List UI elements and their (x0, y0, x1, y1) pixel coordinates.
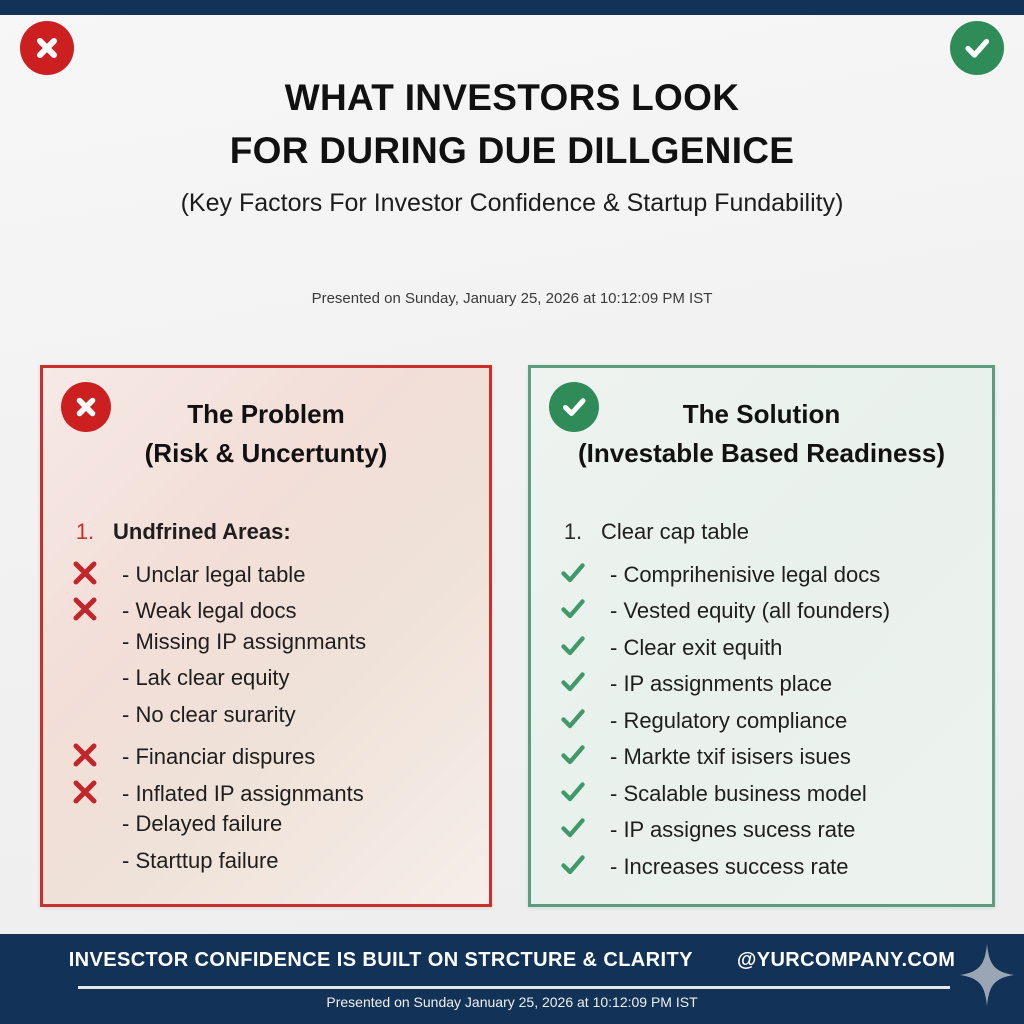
list-item-label: - Regulatory compliance (601, 708, 847, 734)
list-item: - Unclar legal table (57, 556, 475, 593)
list-item-label: - Clear exit equith (601, 635, 782, 661)
x-mark-icon (57, 775, 113, 805)
list-item-label: - Scalable business model (601, 781, 867, 807)
footer-tagline: INVESCTOR CONFIDENCE IS BUILT ON STRCTUR… (69, 949, 693, 972)
list-item: - Clear exit equith (545, 629, 978, 666)
list-item-label: Undfrined Areas: (113, 519, 291, 545)
infographic-page: WHAT INVESTORS LOOK FOR DURING DUE DILLG… (0, 0, 1024, 1024)
list-item-label: Clear cap table (601, 519, 749, 545)
x-mark-icon (57, 556, 113, 586)
list-number-label: 1. (76, 519, 94, 544)
list-item: 1.Clear cap table (545, 519, 978, 556)
solution-panel-heading: The Solution (Investable Based Readiness… (545, 384, 978, 473)
top-navy-strip (0, 0, 1024, 15)
list-item: - Lak clear equity (57, 665, 475, 702)
x-circle-icon (20, 21, 74, 75)
list-item: - Vested equity (all founders) (545, 592, 978, 629)
list-item: - IP assignments place (545, 665, 978, 702)
list-item: - Weak legal docs (57, 592, 475, 629)
list-item: - IP assignes sucess rate (545, 811, 978, 848)
list-item-label: - Missing IP assignmants (113, 629, 366, 655)
list-item: 1.Undfrined Areas: (57, 519, 475, 556)
check-mark-icon (545, 848, 601, 878)
list-item-number: 1. (545, 521, 601, 543)
footer-website[interactable]: @YURCOMPANY.COM (737, 949, 955, 972)
problem-panel: The Problem (Risk & Uncertunty) 1.Undfri… (40, 365, 492, 907)
list-item-label: - Lak clear equity (113, 665, 290, 691)
problem-heading-line-2: (Risk & Uncertunty) (57, 434, 475, 473)
check-mark-icon (545, 629, 601, 659)
list-item: - Financiar dispures (57, 738, 475, 775)
solution-panel: The Solution (Investable Based Readiness… (528, 365, 995, 907)
page-subtitle: (Key Factors For Investor Confidence & S… (0, 189, 1024, 218)
list-item-label: - Starttup failure (113, 848, 279, 874)
list-item: - Increases success rate (545, 848, 978, 885)
comparison-panels: The Problem (Risk & Uncertunty) 1.Undfri… (0, 365, 1024, 907)
check-mark-icon (545, 738, 601, 768)
solution-heading-line-1: The Solution (545, 394, 978, 434)
x-mark-icon (57, 738, 113, 768)
solution-heading-line-2: (Investable Based Readiness) (545, 434, 978, 473)
problem-list: 1.Undfrined Areas:- Unclar legal table- … (57, 519, 475, 884)
list-item-label: - No clear surarity (113, 702, 296, 728)
list-item-label: - Increases success rate (601, 854, 848, 880)
problem-panel-heading: The Problem (Risk & Uncertunty) (57, 384, 475, 473)
list-item-label: - Inflated IP assignmants (113, 781, 364, 807)
check-mark-icon (545, 665, 601, 695)
page-header: WHAT INVESTORS LOOK FOR DURING DUE DILLG… (0, 72, 1024, 218)
check-mark-icon (545, 702, 601, 732)
page-title-line-1: WHAT INVESTORS LOOK (0, 72, 1024, 125)
list-item-label: - Vested equity (all founders) (601, 598, 890, 624)
list-number-label: 1. (564, 519, 582, 544)
footer-divider (78, 986, 950, 989)
check-mark-icon (545, 592, 601, 622)
check-circle-icon (549, 382, 599, 432)
list-item-label: - Delayed failure (113, 811, 282, 837)
list-item: - Delayed failure (57, 811, 475, 848)
list-item-label: - Unclar legal table (113, 562, 305, 588)
list-item-label: - IP assignes sucess rate (601, 817, 855, 843)
check-circle-icon (950, 21, 1004, 75)
list-item: - Scalable business model (545, 775, 978, 812)
list-item: - Regulatory compliance (545, 702, 978, 739)
list-item: - Missing IP assignmants (57, 629, 475, 666)
list-item-label: - Weak legal docs (113, 598, 296, 624)
list-item: - Markte txif isisers isues (545, 738, 978, 775)
footer-timestamp: Presented on Sunday January 25, 2026 at … (0, 994, 1024, 1010)
list-item-label: - Comprihenisive legal docs (601, 562, 880, 588)
list-item: - Comprihenisive legal docs (545, 556, 978, 593)
x-mark-icon (57, 592, 113, 622)
list-item-label: - IP assignments place (601, 671, 832, 697)
list-item-number: 1. (57, 521, 113, 543)
solution-list: 1.Clear cap table- Comprihenisive legal … (545, 519, 978, 884)
x-circle-icon (61, 382, 111, 432)
check-mark-icon (545, 775, 601, 805)
footer-bar: INVESCTOR CONFIDENCE IS BUILT ON STRCTUR… (0, 934, 1024, 1024)
presented-timestamp: Presented on Sunday, January 25, 2026 at… (0, 290, 1024, 307)
list-item: - Starttup failure (57, 848, 475, 885)
list-item-label: - Markte txif isisers isues (601, 744, 851, 770)
list-item: - No clear surarity (57, 702, 475, 739)
check-mark-icon (545, 556, 601, 586)
problem-heading-line-1: The Problem (57, 394, 475, 434)
footer-main-row: INVESCTOR CONFIDENCE IS BUILT ON STRCTUR… (0, 949, 1024, 972)
page-title-line-2: FOR DURING DUE DILLGENICE (0, 125, 1024, 178)
check-mark-icon (545, 811, 601, 841)
list-item-label: - Financiar dispures (113, 744, 315, 770)
list-item: - Inflated IP assignmants (57, 775, 475, 812)
